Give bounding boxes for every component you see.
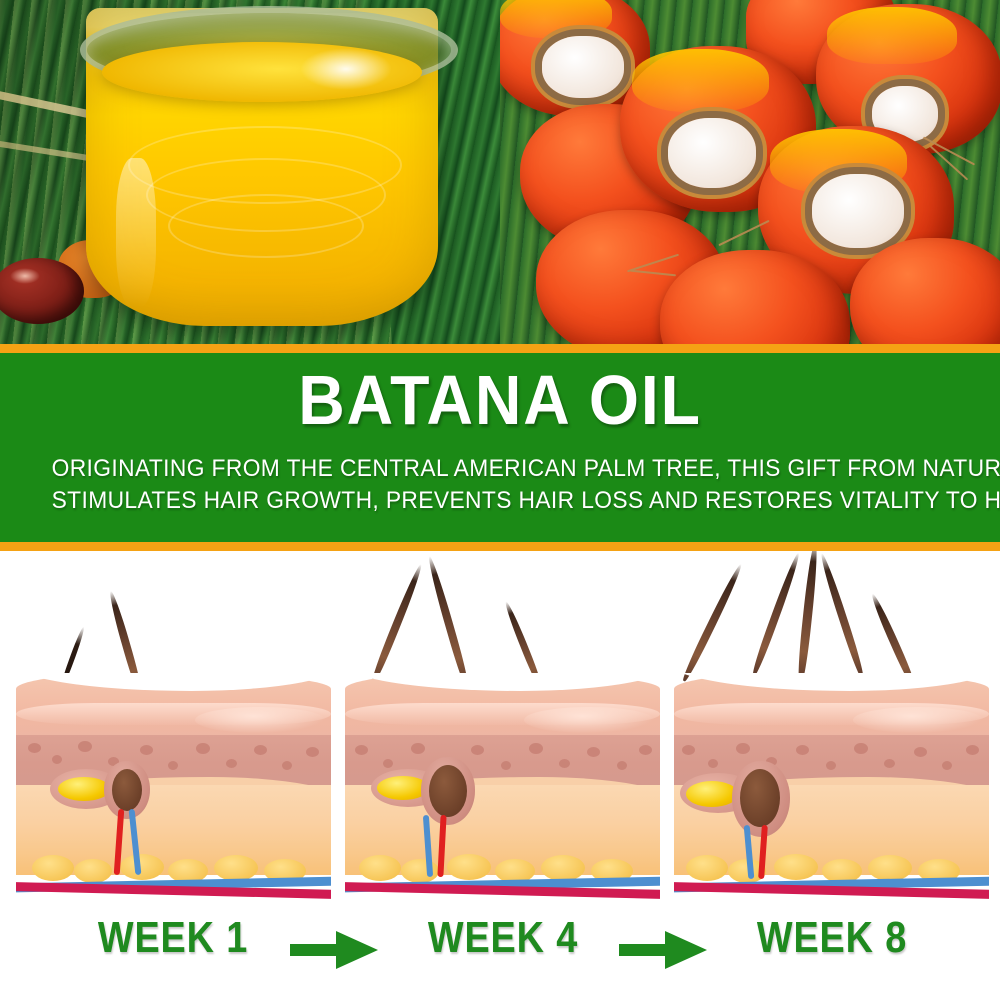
- oil-bowl-photo: [0, 0, 520, 344]
- glass-bowl-of-oil: [86, 8, 438, 328]
- sebum-oil: [58, 777, 110, 801]
- description-line-1: ORIGINATING FROM THE CENTRAL AMERICAN PA…: [52, 453, 949, 485]
- palm-fruit-kernel: [668, 118, 756, 188]
- fat-globule: [74, 859, 112, 883]
- hair-strand: [796, 551, 820, 683]
- fat-globule: [32, 855, 74, 881]
- week-label-2: WEEK 4: [413, 913, 594, 963]
- orange-divider-top: [0, 344, 1000, 353]
- hair-growth-timeline-diagrams: [0, 551, 1000, 911]
- description-line-2: STIMULATES HAIR GROWTH, PREVENTS HAIR LO…: [52, 485, 949, 517]
- fat-globule: [214, 855, 258, 881]
- right-arrow-icon: [617, 927, 709, 973]
- skin-bump: [195, 707, 325, 733]
- fat-globule: [541, 855, 585, 881]
- fat-globule: [359, 855, 401, 881]
- epidermis-layer: [674, 673, 989, 739]
- fat-globule: [120, 854, 164, 880]
- oil-ripple-ring: [168, 194, 364, 258]
- skin-bump: [853, 707, 983, 733]
- palm-fruit-photo: [500, 0, 1000, 344]
- week-label-1: WEEK 1: [83, 913, 264, 963]
- epidermis-layer: [16, 673, 331, 739]
- follicle-bulb: [429, 765, 467, 817]
- page-title: BATANA OIL: [40, 365, 960, 435]
- product-description: ORIGINATING FROM THE CENTRAL AMERICAN PA…: [52, 453, 949, 517]
- skin-cross-section: [345, 673, 660, 903]
- fruit-cap: [632, 49, 769, 112]
- sebum-oil: [686, 781, 738, 807]
- hero-photo-band: [0, 0, 1000, 344]
- palm-nut-highlight: [10, 268, 40, 284]
- skin-surface-contour: [674, 673, 989, 691]
- skin-surface-contour: [16, 673, 331, 691]
- hair-strand: [426, 555, 471, 688]
- bowl-side-highlight: [116, 158, 156, 308]
- fruit-cap: [500, 0, 612, 38]
- skin-bump: [524, 707, 654, 733]
- fat-globule: [774, 854, 818, 880]
- fat-globule: [401, 859, 439, 883]
- diagram-week-1: [16, 551, 331, 903]
- right-arrow-icon: [288, 927, 380, 973]
- product-banner: BATANA OIL ORIGINATING FROM THE CENTRAL …: [0, 353, 1000, 542]
- skin-surface-contour: [345, 673, 660, 691]
- hair-strand: [680, 562, 744, 682]
- skin-cross-section: [674, 673, 989, 903]
- hair-strand: [369, 563, 424, 685]
- timeline-labels: WEEK 1 WEEK 4 WEEK 8: [0, 905, 1000, 1000]
- fruit-cap: [827, 7, 957, 64]
- week-label-3: WEEK 8: [742, 913, 923, 963]
- diagram-week-4: [345, 551, 660, 903]
- diagram-week-8: [674, 551, 989, 903]
- palm-fruit-kernel: [812, 174, 904, 248]
- palm-fruit-kernel: [542, 36, 624, 98]
- follicle-bulb: [740, 769, 780, 827]
- fat-globule: [447, 854, 491, 880]
- fat-globule: [868, 855, 912, 881]
- hair-strand: [750, 551, 802, 676]
- fat-globule: [686, 855, 728, 881]
- batana-oil-product-infographic: BATANA OIL ORIGINATING FROM THE CENTRAL …: [0, 0, 1000, 1000]
- bowl-specular-highlight: [300, 48, 392, 90]
- epidermis-layer: [345, 673, 660, 739]
- follicle-bulb: [112, 769, 142, 811]
- orange-divider-bottom: [0, 542, 1000, 551]
- hair-strand: [818, 552, 866, 678]
- skin-cross-section: [16, 673, 331, 903]
